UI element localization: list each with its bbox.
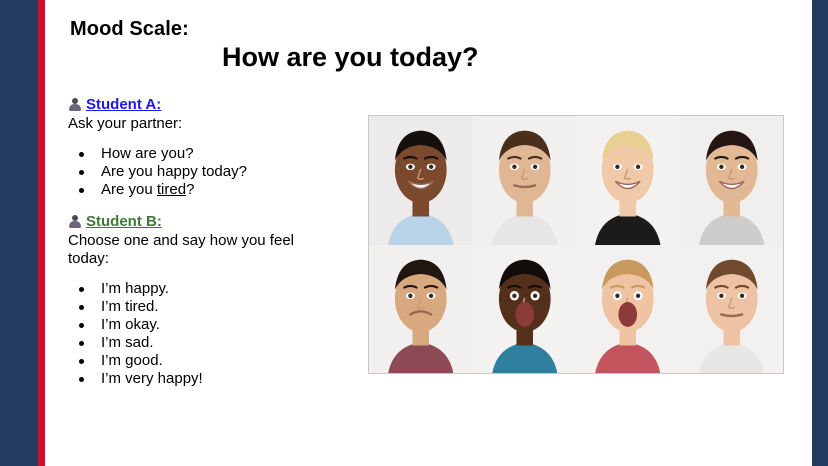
left-navy-accent-bar: [0, 0, 38, 466]
student-b-heading: Student B:: [68, 213, 318, 231]
face-surprised-man-striped-sweater: [473, 245, 577, 374]
person-bust-icon: [68, 97, 82, 113]
face-thinking-man-hand-chin: [473, 116, 577, 245]
list-item: I’m sad.: [68, 334, 318, 352]
list-item: I’m very happy!: [68, 370, 318, 388]
list-item: How are you?: [68, 145, 318, 163]
student-b-prompt: Choose one and say how you feel today:: [68, 232, 298, 268]
student-b-phrase-list: I’m happy.I’m tired.I’m okay.I’m sad.I’m…: [68, 280, 318, 388]
face-shocked-person-hands-on-cheeks: [576, 245, 680, 374]
list-item: I’m happy.: [68, 280, 318, 298]
student-a-label: Student A:: [86, 96, 161, 114]
left-red-accent-bar: [38, 0, 45, 466]
instructions-column: Student A: Ask your partner: How are you…: [68, 96, 318, 388]
page-title: Mood Scale:: [70, 18, 189, 41]
face-laughing-man-spiky-hair: [680, 116, 784, 245]
face-smiling-man-blue-shirt: [369, 116, 473, 245]
list-item: I’m okay.: [68, 316, 318, 334]
student-b-label: Student B:: [86, 213, 162, 231]
underlined-word: tired: [157, 181, 186, 198]
face-sad-man-maroon-shirt: [369, 245, 473, 374]
page-subtitle: How are you today?: [222, 42, 479, 73]
face-laughing-blonde-woman: [576, 116, 680, 245]
face-calm-woman-ponytail: [680, 245, 784, 374]
person-bust-icon: [68, 214, 82, 230]
student-a-prompt: Ask your partner:: [68, 115, 298, 133]
student-a-heading: Student A:: [68, 96, 318, 114]
list-item: Are you happy today?: [68, 163, 318, 181]
student-a-phrase-list: How are you?Are you happy today?Are you …: [68, 145, 318, 199]
list-item: I’m good.: [68, 352, 318, 370]
list-item: Are you tired?: [68, 181, 318, 199]
list-item: I’m tired.: [68, 298, 318, 316]
mood-faces-collage: [368, 115, 784, 374]
right-navy-accent-bar: [812, 0, 828, 466]
slide-canvas: Mood Scale: How are you today? Student A…: [0, 0, 828, 466]
